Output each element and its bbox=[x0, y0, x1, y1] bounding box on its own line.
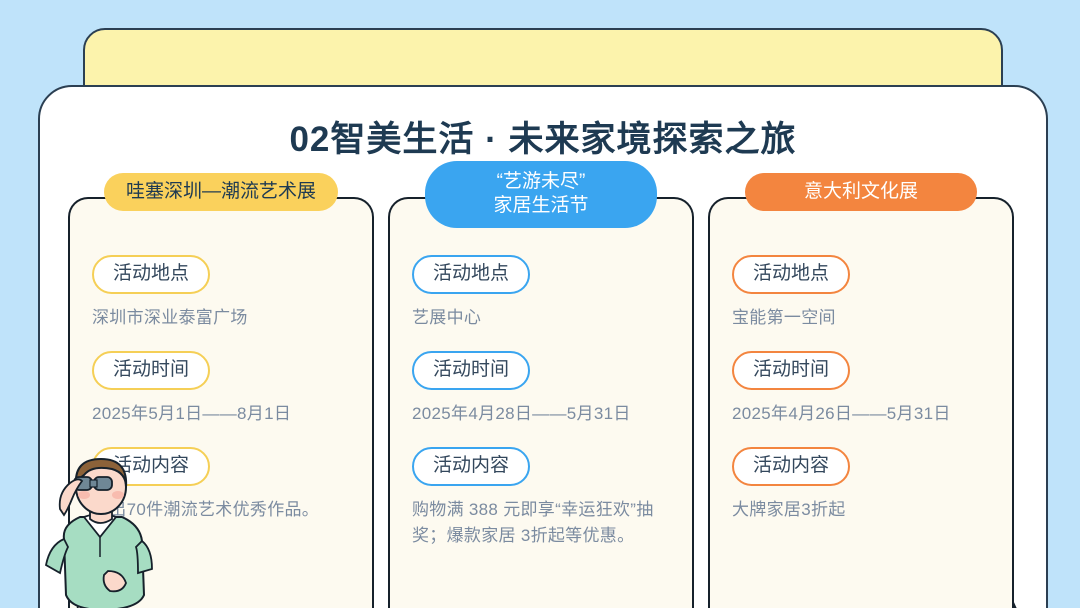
event-card-1-location-label: 活动地点 bbox=[92, 255, 210, 294]
event-card-2-content-value: 购物满 388 元即享“幸运狂欢”抽奖；爆款家居 3折起等优惠。 bbox=[412, 497, 670, 550]
event-card-3-location-field: 活动地点 bbox=[732, 255, 990, 294]
event-card-2-body: 活动地点 艺展中心 活动时间 2025年4月28日——5月31日 活动内容 购物… bbox=[390, 255, 692, 570]
event-card-2[interactable]: “艺游未尽” 家居生活节 活动地点 艺展中心 活动时间 2025年4月28日——… bbox=[388, 197, 694, 608]
event-card-2-time-field: 活动时间 bbox=[412, 351, 670, 390]
event-card-1-time-label: 活动时间 bbox=[92, 351, 210, 390]
event-card-3-content-label: 活动内容 bbox=[732, 447, 850, 486]
person-with-binoculars-illustration bbox=[38, 453, 182, 608]
event-cards-row: 哇塞深圳—潮流艺术展 活动地点 深圳市深业泰富广场 活动时间 2025年5月1日… bbox=[40, 197, 1046, 608]
event-card-3-header: 意大利文化展 bbox=[745, 173, 977, 211]
event-card-2-title-line1: “艺游未尽” bbox=[455, 170, 627, 194]
event-card-1-location-field: 活动地点 bbox=[92, 255, 350, 294]
event-card-3-location-label: 活动地点 bbox=[732, 255, 850, 294]
event-card-1-time-value: 2025年5月1日——8月1日 bbox=[92, 401, 350, 427]
event-card-1-time-field: 活动时间 bbox=[92, 351, 350, 390]
event-card-2-content-field: 活动内容 bbox=[412, 447, 670, 486]
event-card-2-header: “艺游未尽” 家居生活节 bbox=[425, 161, 657, 228]
event-card-2-time-value: 2025年4月28日——5月31日 bbox=[412, 401, 670, 427]
event-card-1-header: 哇塞深圳—潮流艺术展 bbox=[104, 173, 338, 211]
event-card-3-content-field: 活动内容 bbox=[732, 447, 990, 486]
event-card-3-time-value: 2025年4月26日——5月31日 bbox=[732, 401, 990, 427]
event-card-2-location-label: 活动地点 bbox=[412, 255, 530, 294]
event-card-3-body: 活动地点 宝能第一空间 活动时间 2025年4月26日——5月31日 活动内容 … bbox=[710, 255, 1012, 543]
event-card-3[interactable]: 意大利文化展 活动地点 宝能第一空间 活动时间 2025年4月26日——5月31… bbox=[708, 197, 1014, 608]
event-card-3-time-field: 活动时间 bbox=[732, 351, 990, 390]
event-card-3-title-line1: 意大利文化展 bbox=[804, 181, 918, 202]
page-title: 02智美生活 · 未来家境探索之旅 bbox=[40, 111, 1046, 162]
event-card-2-location-value: 艺展中心 bbox=[412, 305, 670, 331]
event-card-3-content-value: 大牌家居3折起 bbox=[732, 497, 990, 523]
event-card-3-time-label: 活动时间 bbox=[732, 351, 850, 390]
slide-stage: 02智美生活 · 未来家境探索之旅 哇塞深圳—潮流艺术展 活动地点 深圳市深业泰… bbox=[0, 0, 1080, 608]
event-card-2-time-label: 活动时间 bbox=[412, 351, 530, 390]
main-content-panel: 02智美生活 · 未来家境探索之旅 哇塞深圳—潮流艺术展 活动地点 深圳市深业泰… bbox=[38, 85, 1048, 608]
event-card-1-title-line1: 哇塞深圳—潮流艺术展 bbox=[126, 181, 316, 202]
event-card-2-title-line2: 家居生活节 bbox=[455, 194, 627, 218]
event-card-2-content-label: 活动内容 bbox=[412, 447, 530, 486]
event-card-1-location-value: 深圳市深业泰富广场 bbox=[92, 305, 350, 331]
event-card-2-location-field: 活动地点 bbox=[412, 255, 670, 294]
event-card-3-location-value: 宝能第一空间 bbox=[732, 305, 990, 331]
